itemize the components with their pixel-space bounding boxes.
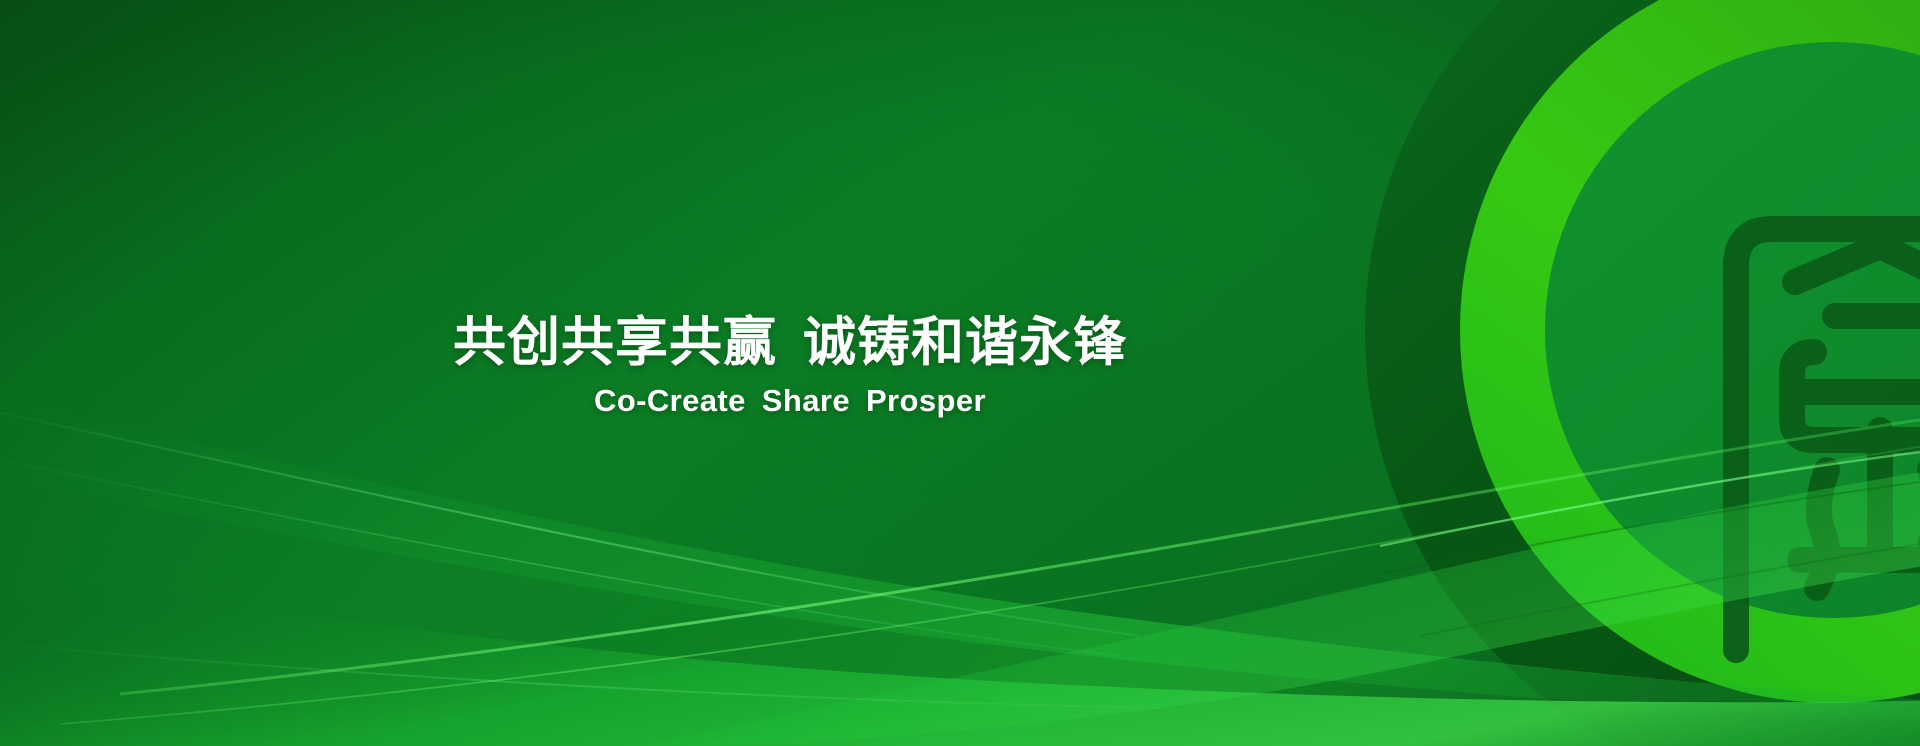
- hero-banner: 共创共享共赢诚铸和谐永锋 Co-CreateShareProsper: [0, 0, 1920, 746]
- wave-ribbon-layer: [0, 0, 1920, 746]
